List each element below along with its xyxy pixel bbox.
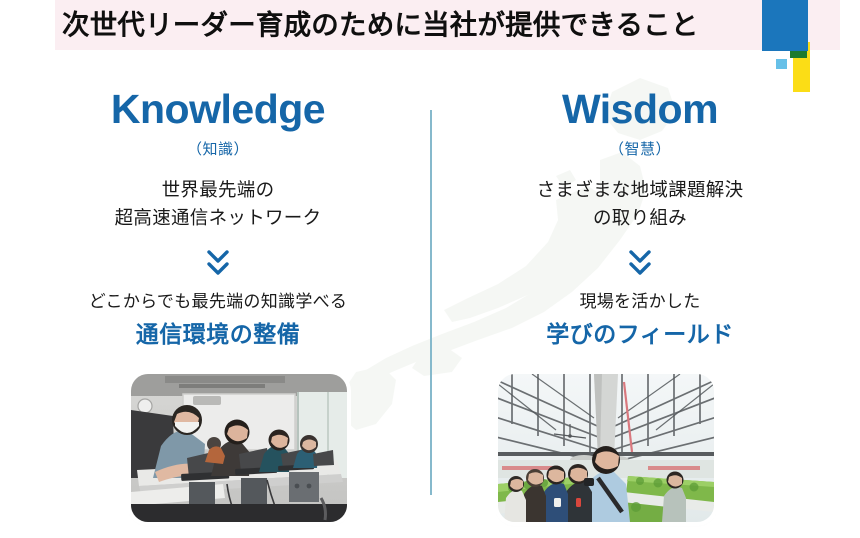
knowledge-description-line2: 超高速通信ネットワーク: [18, 204, 418, 232]
knowledge-result-line1: どこからでも最先端の知識学べる: [89, 292, 347, 311]
wisdom-result-strong: 学びのフィールド: [440, 318, 840, 351]
slide-canvas: 次世代リーダー育成のために当社が提供できること Knowledge （知識） 世…: [0, 0, 860, 538]
knowledge-description: 世界最先端の 超高速通信ネットワーク: [18, 176, 418, 232]
wisdom-double-chevron-down-icon: [440, 246, 840, 280]
knowledge-result: どこからでも最先端の知識学べる 通信環境の整備: [18, 290, 418, 351]
column-wisdom: Wisdom （智慧） さまざまな地域課題解決 の取り組み 現場を活かした 学び…: [440, 88, 840, 351]
wisdom-photo: [498, 374, 714, 522]
wisdom-subtitle: （智慧）: [440, 138, 840, 159]
page-title: 次世代リーダー育成のために当社が提供できること: [62, 3, 782, 47]
wisdom-description-line1: さまざまな地域課題解決: [440, 176, 840, 204]
knowledge-photo: [131, 374, 347, 522]
knowledge-result-strong: 通信環境の整備: [18, 318, 418, 351]
wisdom-description-line2: の取り組み: [440, 204, 840, 232]
knowledge-double-chevron-down-icon: [18, 246, 418, 280]
knowledge-subtitle: （知識）: [18, 138, 418, 159]
wisdom-result: 現場を活かした 学びのフィールド: [440, 290, 840, 351]
column-knowledge: Knowledge （知識） 世界最先端の 超高速通信ネットワーク どこからでも…: [18, 88, 418, 351]
decoration-lightblue-block: [776, 59, 787, 69]
column-divider: [430, 110, 432, 495]
wisdom-heading: Wisdom: [440, 88, 840, 131]
knowledge-description-line1: 世界最先端の: [18, 176, 418, 204]
knowledge-heading: Knowledge: [18, 88, 418, 131]
wisdom-description: さまざまな地域課題解決 の取り組み: [440, 176, 840, 232]
decoration-blue-block: [762, 0, 808, 51]
wisdom-result-line1: 現場を活かした: [579, 292, 700, 311]
